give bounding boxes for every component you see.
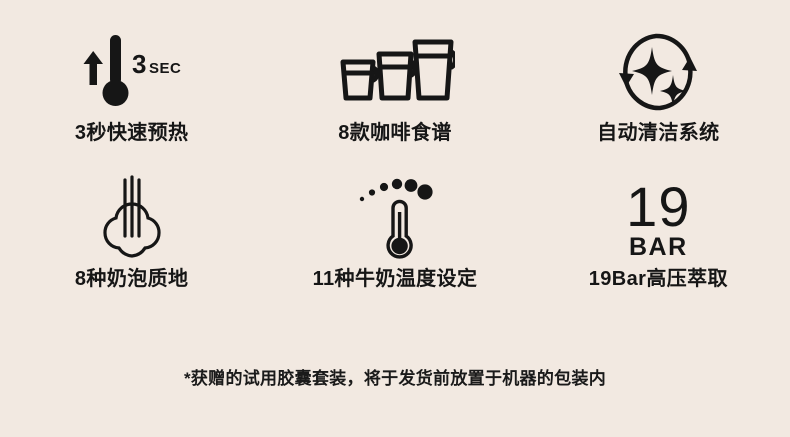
- feature-board: 3 SEC 3秒快速预热: [0, 0, 790, 437]
- thermometer-dots-icon: [346, 172, 444, 268]
- feature-label: 8款咖啡食谱: [338, 122, 452, 144]
- feature-cell-milk-foam: 8种奶泡质地: [0, 172, 263, 322]
- feature-label: 自动清洁系统: [597, 122, 719, 144]
- feature-cell-auto-clean: 自动清洁系统: [527, 22, 790, 172]
- svg-text:3: 3: [132, 49, 146, 79]
- feature-label: 19Bar高压萃取: [589, 268, 728, 290]
- feature-cell-coffee-recipes: 8款咖啡食谱: [263, 22, 526, 172]
- feature-label: 3秒快速预热: [75, 122, 189, 144]
- feature-label: 11种牛奶温度设定: [313, 268, 478, 290]
- pressure-bar-text-icon: 19 BAR: [626, 172, 690, 268]
- pressure-value: 19: [626, 180, 690, 233]
- thermometer-up-arrow-icon: 3 SEC: [70, 22, 194, 122]
- feature-cell-fast-preheat: 3 SEC 3秒快速预热: [0, 22, 263, 172]
- feature-label: 8种奶泡质地: [75, 268, 189, 290]
- milk-foam-cloud-icon: [89, 172, 175, 268]
- feature-grid: 3 SEC 3秒快速预热: [0, 22, 790, 322]
- footnote: *获赠的试用胶囊套装，将于发货前放置于机器的包装内: [0, 322, 790, 437]
- svg-text:SEC: SEC: [149, 60, 181, 77]
- pressure-unit: BAR: [629, 235, 688, 260]
- feature-cell-pressure: 19 BAR 19Bar高压萃取: [527, 172, 790, 322]
- footnote-text: *获赠的试用胶囊套装，将于发货前放置于机器的包装内: [184, 364, 606, 389]
- auto-clean-sparkle-cycle-icon: [612, 22, 704, 122]
- feature-cell-milk-temperature: 11种牛奶温度设定: [263, 172, 526, 322]
- three-coffee-cups-icon: [335, 22, 455, 122]
